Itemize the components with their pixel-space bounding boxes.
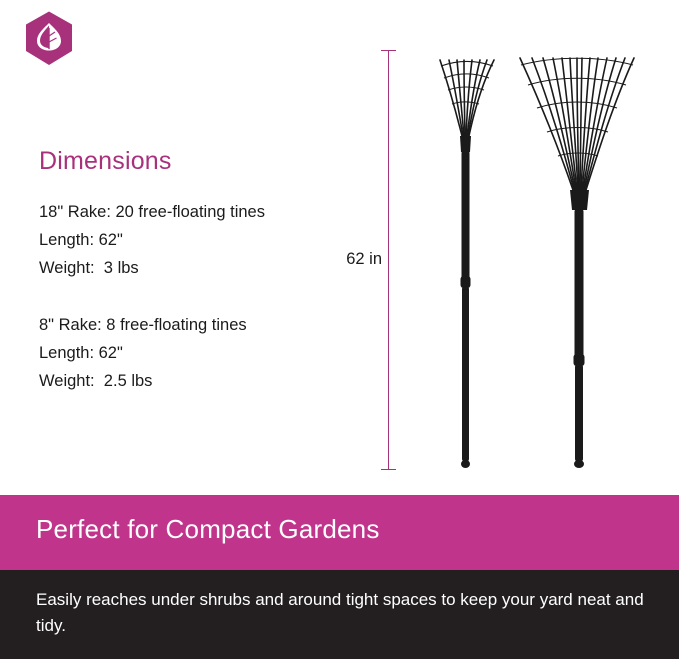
- dimensions-line-3: Weight: 3 lbs: [39, 254, 339, 282]
- highlight-banner: Perfect for Compact Gardens: [0, 495, 679, 570]
- dimensions-line-2: Length: 62": [39, 226, 339, 254]
- measurement-cap-top: [381, 50, 396, 51]
- dimensions-spacer: [39, 283, 339, 311]
- rake-illustrations: [410, 40, 660, 480]
- measurement-cap-bottom: [381, 469, 396, 470]
- small-rake-icon: [440, 60, 494, 468]
- product-images: [410, 40, 660, 480]
- description-footer: Easily reaches under shrubs and around t…: [0, 570, 679, 659]
- brand-logo: [18, 8, 80, 70]
- dimensions-line-6: Weight: 2.5 lbs: [39, 367, 339, 395]
- measurement-line: [388, 50, 389, 470]
- leaf-shield-logo-icon: [18, 8, 80, 70]
- product-info-page: Dimensions 18" Rake: 20 free-floating ti…: [0, 0, 679, 659]
- large-rake-icon: [520, 58, 634, 468]
- dimensions-block: Dimensions 18" Rake: 20 free-floating ti…: [39, 148, 339, 396]
- dimensions-line-4: 8" Rake: 8 free-floating tines: [39, 311, 339, 339]
- footer-body-text: Easily reaches under shrubs and around t…: [36, 587, 646, 640]
- banner-heading: Perfect for Compact Gardens: [36, 514, 380, 545]
- dimensions-line-1: 18" Rake: 20 free-floating tines: [39, 198, 339, 226]
- measurement-label: 62 in: [334, 250, 382, 269]
- dimensions-line-5: Length: 62": [39, 339, 339, 367]
- dimensions-title: Dimensions: [39, 148, 339, 176]
